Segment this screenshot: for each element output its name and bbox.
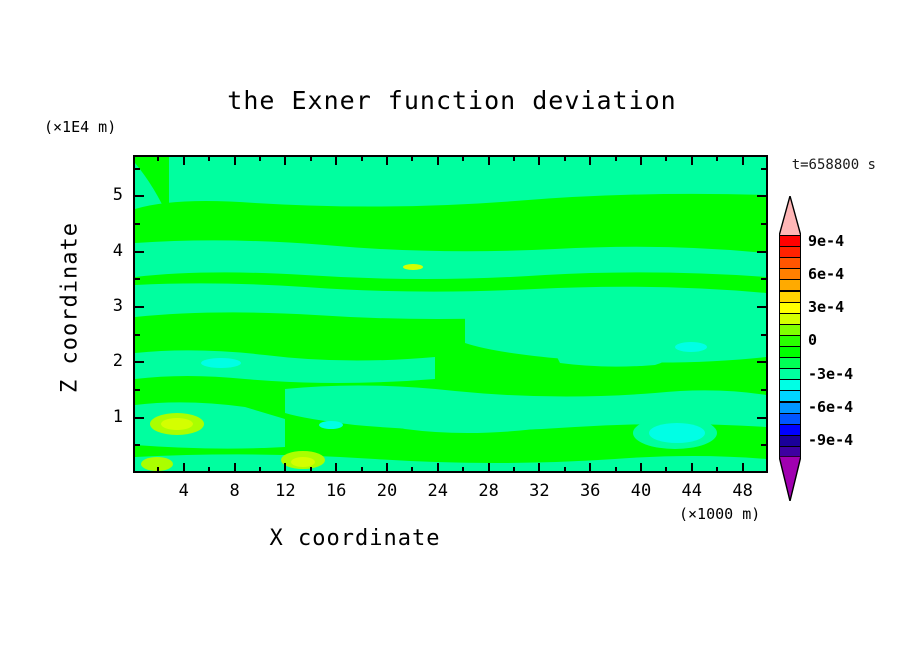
x-minor-tick-top bbox=[310, 155, 312, 161]
x-minor-tick bbox=[411, 467, 413, 473]
x-major-tick bbox=[284, 463, 286, 473]
y-major-tick bbox=[133, 361, 144, 363]
y-minor-tick-right bbox=[761, 389, 768, 391]
x-minor-tick-top bbox=[157, 155, 159, 161]
y-axis-units-label: (×1E4 m) bbox=[44, 118, 116, 136]
colorbar bbox=[779, 235, 801, 457]
y-major-tick-right bbox=[757, 306, 768, 308]
y-major-tick bbox=[133, 251, 144, 253]
colorbar-tick-label: -3e-4 bbox=[808, 365, 853, 383]
y-minor-tick bbox=[133, 278, 140, 280]
y-major-tick-right bbox=[757, 361, 768, 363]
y-minor-tick bbox=[133, 334, 140, 336]
x-minor-tick-top bbox=[716, 155, 718, 161]
y-tick-label: 3 bbox=[93, 296, 123, 316]
x-tick-label: 40 bbox=[621, 481, 661, 501]
y-minor-tick bbox=[133, 223, 140, 225]
x-tick-label: 4 bbox=[164, 481, 204, 501]
x-major-tick-top bbox=[589, 155, 591, 165]
x-major-tick bbox=[640, 463, 642, 473]
x-tick-label: 8 bbox=[215, 481, 255, 501]
x-minor-tick-top bbox=[513, 155, 515, 161]
y-major-tick bbox=[133, 195, 144, 197]
chart-title: the Exner function deviation bbox=[0, 86, 904, 115]
contour-field bbox=[135, 157, 766, 471]
x-major-tick-top bbox=[538, 155, 540, 165]
y-tick-label: 1 bbox=[93, 407, 123, 427]
x-major-tick-top bbox=[742, 155, 744, 165]
y-major-tick-right bbox=[757, 195, 768, 197]
x-minor-tick-top bbox=[564, 155, 566, 161]
x-tick-label: 48 bbox=[723, 481, 763, 501]
colorbar-tick-label: -9e-4 bbox=[808, 431, 853, 449]
x-tick-label: 24 bbox=[418, 481, 458, 501]
x-major-tick-top bbox=[335, 155, 337, 165]
x-major-tick bbox=[742, 463, 744, 473]
colorbar-under-arrow bbox=[779, 456, 801, 501]
y-tick-label: 4 bbox=[93, 241, 123, 261]
colorbar-tick-label: 3e-4 bbox=[808, 298, 844, 316]
x-major-tick bbox=[488, 463, 490, 473]
y-tick-label: 2 bbox=[93, 351, 123, 371]
x-minor-tick-top bbox=[615, 155, 617, 161]
x-major-tick-top bbox=[437, 155, 439, 165]
x-major-tick bbox=[335, 463, 337, 473]
x-minor-tick-top bbox=[411, 155, 413, 161]
x-tick-label: 12 bbox=[265, 481, 305, 501]
x-major-tick bbox=[183, 463, 185, 473]
x-tick-label: 28 bbox=[469, 481, 509, 501]
y-major-tick-right bbox=[757, 417, 768, 419]
x-minor-tick bbox=[462, 467, 464, 473]
y-minor-tick bbox=[133, 168, 140, 170]
x-axis-units-label: (×1000 m) bbox=[679, 505, 760, 523]
y-major-tick bbox=[133, 306, 144, 308]
x-major-tick bbox=[538, 463, 540, 473]
colorbar-tick-label: 9e-4 bbox=[808, 232, 844, 250]
colorbar-over-arrow bbox=[779, 196, 801, 236]
x-minor-tick-top bbox=[462, 155, 464, 161]
x-major-tick-top bbox=[386, 155, 388, 165]
x-minor-tick-top bbox=[259, 155, 261, 161]
y-major-tick-right bbox=[757, 251, 768, 253]
x-minor-tick bbox=[615, 467, 617, 473]
x-major-tick bbox=[589, 463, 591, 473]
x-tick-label: 44 bbox=[672, 481, 712, 501]
colorbar-tick-label: -6e-4 bbox=[808, 398, 853, 416]
x-minor-tick bbox=[259, 467, 261, 473]
x-major-tick bbox=[437, 463, 439, 473]
x-minor-tick bbox=[564, 467, 566, 473]
contour-plot-area bbox=[133, 155, 768, 473]
x-minor-tick bbox=[208, 467, 210, 473]
x-tick-label: 16 bbox=[316, 481, 356, 501]
y-minor-tick bbox=[133, 444, 140, 446]
x-major-tick bbox=[234, 463, 236, 473]
x-minor-tick-top bbox=[208, 155, 210, 161]
x-major-tick-top bbox=[488, 155, 490, 165]
y-minor-tick bbox=[133, 389, 140, 391]
x-axis-title: X coordinate bbox=[0, 526, 710, 551]
x-minor-tick-top bbox=[361, 155, 363, 161]
x-minor-tick bbox=[716, 467, 718, 473]
x-tick-label: 20 bbox=[367, 481, 407, 501]
x-minor-tick bbox=[513, 467, 515, 473]
x-minor-tick bbox=[361, 467, 363, 473]
y-minor-tick-right bbox=[761, 278, 768, 280]
time-annotation: t=658800 s bbox=[792, 157, 876, 173]
y-major-tick bbox=[133, 417, 144, 419]
x-major-tick bbox=[386, 463, 388, 473]
x-major-tick-top bbox=[284, 155, 286, 165]
y-minor-tick-right bbox=[761, 334, 768, 336]
x-major-tick bbox=[691, 463, 693, 473]
x-minor-tick bbox=[665, 467, 667, 473]
contour-bands-svg bbox=[135, 157, 766, 471]
x-major-tick-top bbox=[234, 155, 236, 165]
x-tick-label: 36 bbox=[570, 481, 610, 501]
y-axis-title: Z coordinate bbox=[58, 208, 83, 408]
y-minor-tick-right bbox=[761, 223, 768, 225]
x-minor-tick-top bbox=[665, 155, 667, 161]
y-minor-tick-right bbox=[761, 168, 768, 170]
x-major-tick-top bbox=[640, 155, 642, 165]
x-major-tick-top bbox=[183, 155, 185, 165]
colorbar-tick-label: 6e-4 bbox=[808, 265, 844, 283]
x-minor-tick bbox=[157, 467, 159, 473]
x-minor-tick bbox=[310, 467, 312, 473]
x-tick-label: 32 bbox=[519, 481, 559, 501]
y-tick-label: 5 bbox=[93, 185, 123, 205]
colorbar-tick-label: 0 bbox=[808, 331, 817, 349]
x-major-tick-top bbox=[691, 155, 693, 165]
y-minor-tick-right bbox=[761, 444, 768, 446]
